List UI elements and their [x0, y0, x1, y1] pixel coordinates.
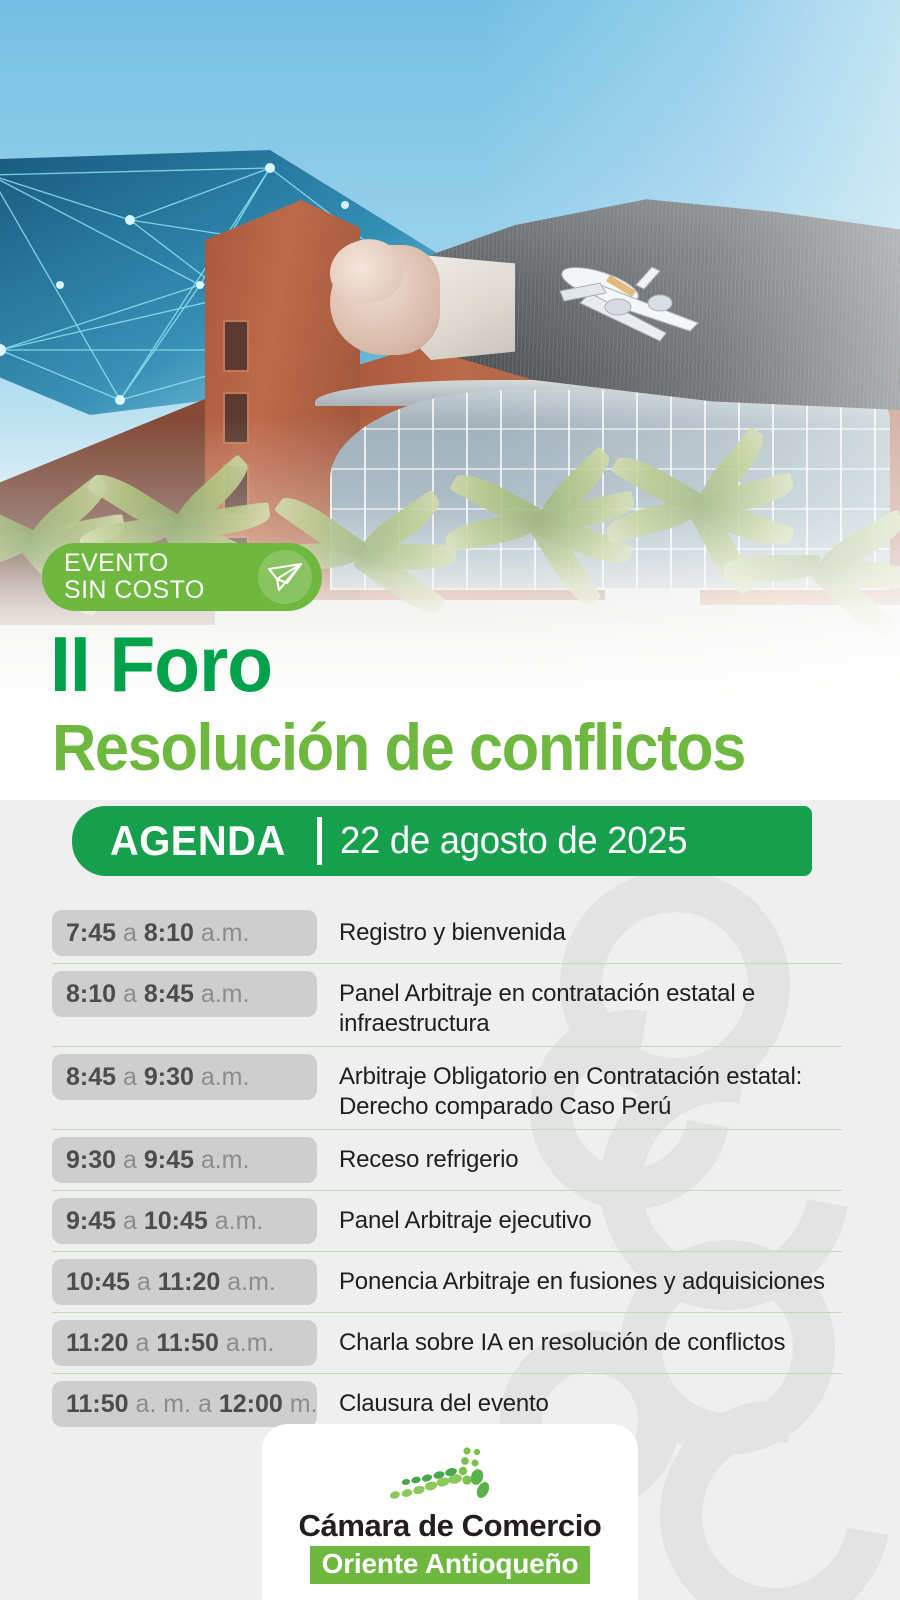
- paper-plane-icon: [265, 559, 305, 595]
- free-event-badge: EVENTO SIN COSTO: [42, 543, 322, 611]
- agenda-row: 9:30 a 9:45 a.m.Receso refrigerio: [52, 1137, 842, 1191]
- agenda-time-suffix: a.m.: [194, 919, 250, 948]
- agenda-description: Panel Arbitraje en contratación estatal …: [317, 971, 842, 1039]
- agenda-time-pill: 9:45 a 10:45 a.m.: [52, 1198, 317, 1244]
- agenda-time-end: 11:20: [158, 1268, 221, 1297]
- agenda-row: 11:20 a 11:50 a.m.Charla sobre IA en res…: [52, 1320, 842, 1374]
- agenda-time-pill: 11:50 a. m. a 12:00 m.: [52, 1381, 317, 1427]
- agenda-time-suffix: a.m.: [194, 1063, 250, 1092]
- agenda-time-end: 12:00: [219, 1390, 283, 1419]
- agenda-row: 8:10 a 8:45 a.m.Panel Arbitraje en contr…: [52, 971, 842, 1047]
- agenda-time-end: 8:45: [144, 980, 194, 1009]
- agenda-time-separator: a. m. a: [129, 1390, 219, 1419]
- agenda-time-pill: 7:45 a 8:10 a.m.: [52, 910, 317, 956]
- badge-line-2: SIN COSTO: [64, 577, 205, 604]
- organization-logo-card: Cámara de Comercio Oriente Antioqueño: [262, 1424, 638, 1600]
- agenda-description: Ponencia Arbitraje en fusiones y adquisi…: [317, 1259, 842, 1297]
- agenda-time-start: 9:30: [66, 1146, 116, 1175]
- agenda-time-pill: 10:45 a 11:20 a.m.: [52, 1259, 317, 1305]
- event-title-sub: Resolución de conflictos: [52, 712, 745, 782]
- agenda-time-separator: a: [116, 1207, 144, 1236]
- agenda-time-pill: 9:30 a 9:45 a.m.: [52, 1137, 317, 1183]
- agenda-description: Arbitraje Obligatorio en Contratación es…: [317, 1054, 842, 1122]
- agenda-time-separator: a: [116, 1063, 144, 1092]
- agenda-time-pill: 11:20 a 11:50 a.m.: [52, 1320, 317, 1366]
- agenda-time-end: 9:45: [144, 1146, 194, 1175]
- agenda-time-pill: 8:10 a 8:45 a.m.: [52, 971, 317, 1017]
- agenda-time-suffix: a.m.: [194, 1146, 250, 1175]
- agenda-time-start: 9:45: [66, 1207, 116, 1236]
- agenda-description: Registro y bienvenida: [317, 910, 842, 948]
- logo-line-1: Cámara de Comercio: [299, 1508, 602, 1544]
- agenda-time-suffix: a.m.: [194, 980, 250, 1009]
- agenda-time-suffix: m.: [283, 1390, 318, 1419]
- agenda-description: Receso refrigerio: [317, 1137, 842, 1175]
- badge-icon-circle: [258, 550, 312, 604]
- agenda-row: 10:45 a 11:20 a.m.Ponencia Arbitraje en …: [52, 1259, 842, 1313]
- logo-line-2-highlight: Oriente Antioqueño: [310, 1546, 591, 1584]
- agenda-time-separator: a: [116, 980, 144, 1009]
- logo-line-2: Oriente Antioqueño: [322, 1548, 579, 1580]
- agenda-date: 22 de agosto de 2025: [340, 820, 687, 863]
- agenda-time-start: 11:50: [66, 1390, 129, 1419]
- agenda-time-separator: a: [116, 1146, 144, 1175]
- agenda-banner: AGENDA 22 de agosto de 2025: [72, 806, 812, 876]
- agenda-time-end: 9:30: [144, 1063, 194, 1092]
- agenda-label: AGENDA: [110, 817, 286, 865]
- agenda-time-end: 10:45: [144, 1207, 208, 1236]
- agenda-description: Panel Arbitraje ejecutivo: [317, 1198, 842, 1236]
- agenda-time-separator: a: [129, 1329, 157, 1358]
- agenda-time-end: 8:10: [144, 919, 194, 948]
- leaf-dots-logo-icon: [355, 1446, 545, 1506]
- agenda-time-separator: a: [116, 919, 144, 948]
- agenda-divider: [317, 817, 322, 865]
- agenda-time-start: 11:20: [66, 1329, 129, 1358]
- agenda-row: 9:45 a 10:45 a.m.Panel Arbitraje ejecuti…: [52, 1198, 842, 1252]
- agenda-time-start: 8:45: [66, 1063, 116, 1092]
- agenda-time-suffix: a.m.: [220, 1268, 276, 1297]
- agenda-time-pill: 8:45 a 9:30 a.m.: [52, 1054, 317, 1100]
- agenda-time-suffix: a.m.: [219, 1329, 275, 1358]
- agenda-row: 7:45 a 8:10 a.m.Registro y bienvenida: [52, 910, 842, 964]
- agenda-time-suffix: a.m.: [208, 1207, 264, 1236]
- badge-line-1: EVENTO: [64, 550, 205, 577]
- agenda-time-start: 8:10: [66, 980, 116, 1009]
- agenda-row: 8:45 a 9:30 a.m.Arbitraje Obligatorio en…: [52, 1054, 842, 1130]
- agenda-time-start: 10:45: [66, 1268, 130, 1297]
- agenda-time-start: 7:45: [66, 919, 116, 948]
- agenda-time-separator: a: [130, 1268, 158, 1297]
- agenda-description: Clausura del evento: [317, 1381, 842, 1419]
- agenda-list: 7:45 a 8:10 a.m.Registro y bienvenida8:1…: [52, 910, 842, 1441]
- agenda-time-end: 11:50: [156, 1329, 219, 1358]
- event-poster: EVENTO SIN COSTO II Foro Resolución de c…: [0, 0, 900, 1600]
- agenda-description: Charla sobre IA en resolución de conflic…: [317, 1320, 842, 1358]
- event-title-main: II Foro: [50, 625, 272, 703]
